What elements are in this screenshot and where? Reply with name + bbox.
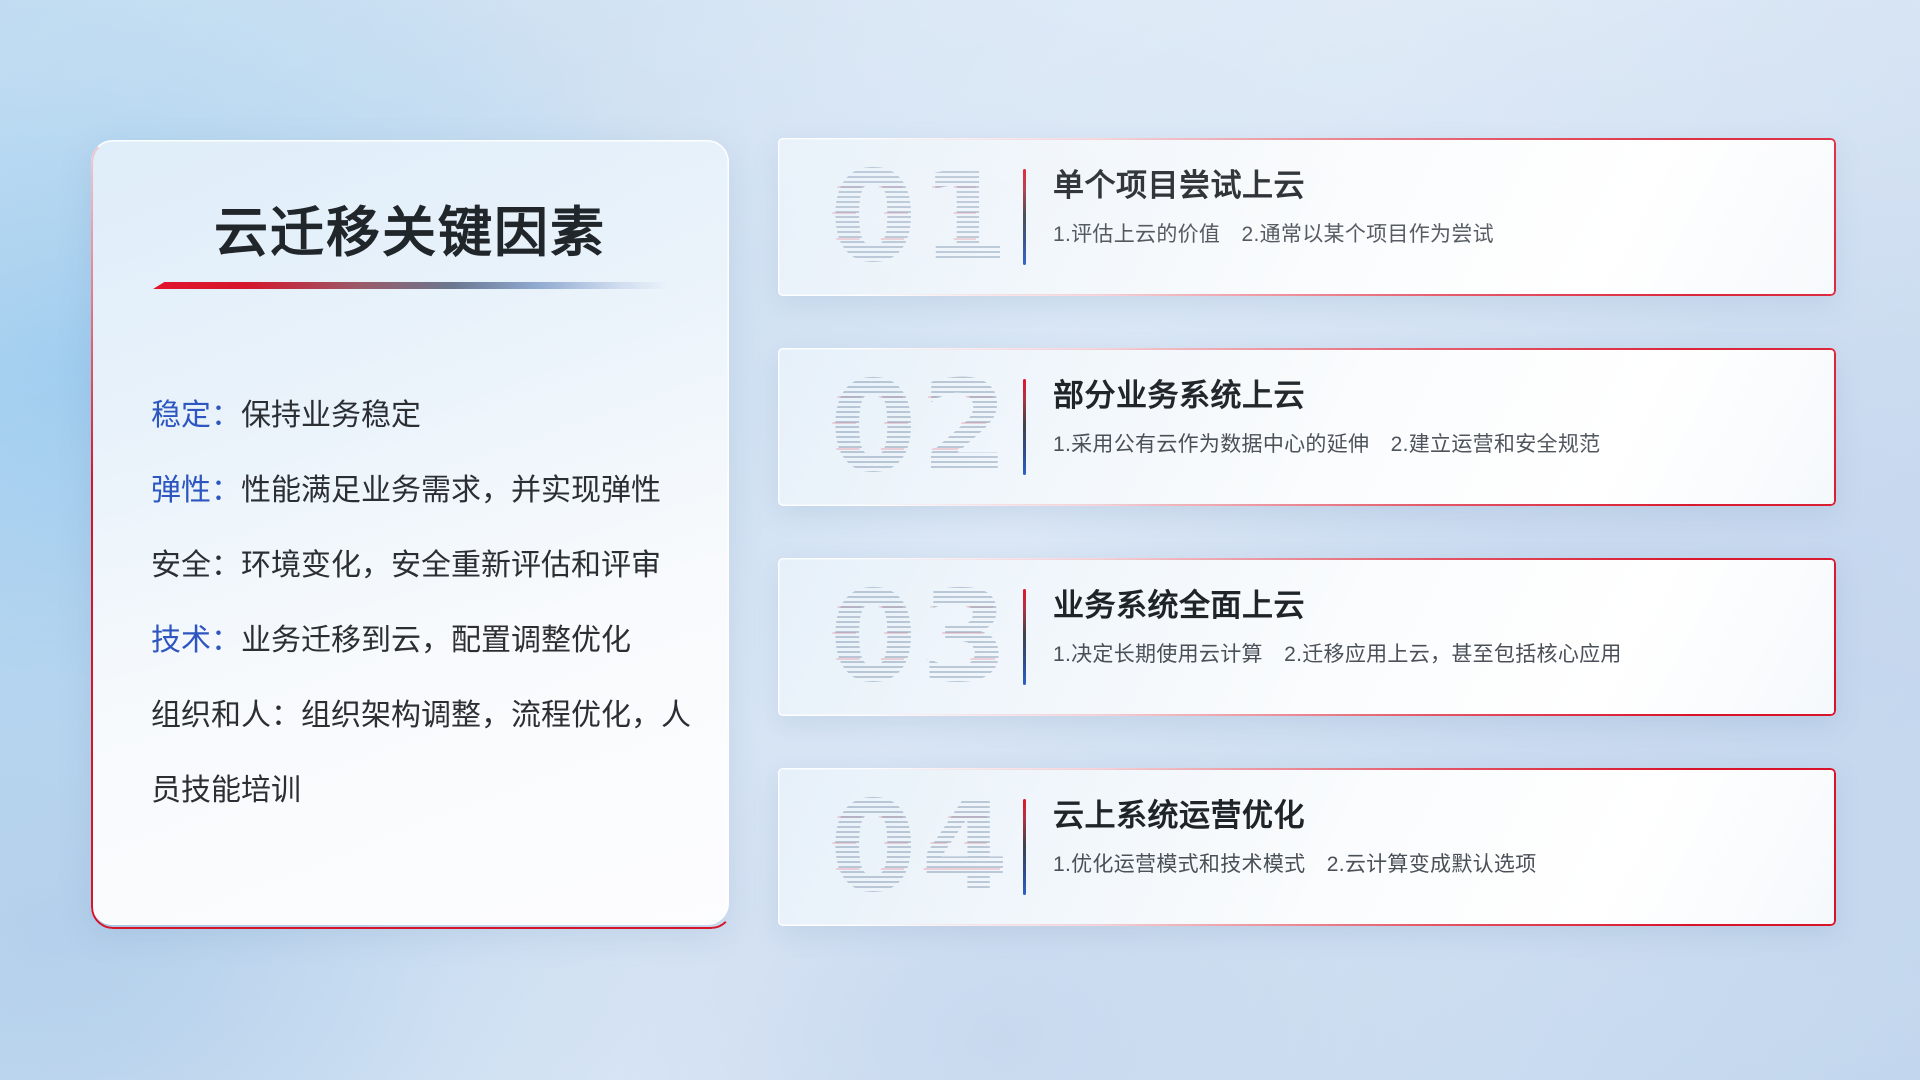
stage-number-echo: 01 <box>811 151 1025 283</box>
stage-card[interactable]: 01 01 单个项目尝试上云 1.评估上云的价值 2.通常以某个项目作为尝试 <box>778 138 1836 296</box>
factor-text: 环境变化，安全重新评估和评审 <box>241 549 661 582</box>
stage-description: 1.采用公有云作为数据中心的延伸 2.建立运营和安全规范 <box>1053 431 1812 459</box>
factor-label: 稳定： <box>151 399 241 432</box>
key-factors-panel: 云迁移关键因素 稳定：保持业务稳定 弹性：性能满足业务需求，并实现弹性 安全：环… <box>91 140 729 925</box>
stage-body: 云上系统运营优化 1.优化运营模式和技术模式 2.云计算变成默认选项 <box>1053 794 1812 879</box>
list-item: 弹性：性能满足业务需求，并实现弹性 <box>151 453 693 528</box>
stage-title: 业务系统全面上云 <box>1053 584 1812 628</box>
stage-card[interactable]: 02 02 部分业务系统上云 1.采用公有云作为数据中心的延伸 2.建立运营和安… <box>778 348 1836 506</box>
stage-body: 部分业务系统上云 1.采用公有云作为数据中心的延伸 2.建立运营和安全规范 <box>1053 374 1812 459</box>
factor-text: 性能满足业务需求，并实现弹性 <box>241 474 661 507</box>
factor-label: 技术： <box>151 624 241 657</box>
stage-title: 部分业务系统上云 <box>1053 374 1812 418</box>
migration-stage-cards: 01 01 单个项目尝试上云 1.评估上云的价值 2.通常以某个项目作为尝试 0… <box>778 138 1836 926</box>
factor-text: 业务迁移到云，配置调整优化 <box>241 624 631 657</box>
stage-description: 1.评估上云的价值 2.通常以某个项目作为尝试 <box>1053 221 1812 249</box>
stage-title: 云上系统运营优化 <box>1053 794 1812 838</box>
stage-description: 1.优化运营模式和技术模式 2.云计算变成默认选项 <box>1053 851 1812 879</box>
factor-label: 组织和人： <box>151 699 301 732</box>
list-item: 组织和人：组织架构调整，流程优化，人员技能培训 <box>151 678 693 828</box>
stage-divider <box>1023 799 1026 895</box>
factor-label: 安全： <box>151 549 241 582</box>
stage-divider <box>1023 589 1026 685</box>
list-item: 稳定：保持业务稳定 <box>151 378 693 453</box>
stage-description: 1.决定长期使用云计算 2.迁移应用上云，甚至包括核心应用 <box>1053 641 1812 669</box>
list-item: 技术：业务迁移到云，配置调整优化 <box>151 603 693 678</box>
title-underline-rule <box>153 282 669 289</box>
slide-canvas: 云迁移关键因素 稳定：保持业务稳定 弹性：性能满足业务需求，并实现弹性 安全：环… <box>0 0 1920 1080</box>
stage-number: 02 <box>814 361 1028 493</box>
stage-body: 单个项目尝试上云 1.评估上云的价值 2.通常以某个项目作为尝试 <box>1053 164 1812 249</box>
stage-divider <box>1023 169 1026 265</box>
page-title: 云迁移关键因素 <box>91 188 729 267</box>
stage-card[interactable]: 03 03 业务系统全面上云 1.决定长期使用云计算 2.迁移应用上云，甚至包括… <box>778 558 1836 716</box>
stage-title: 单个项目尝试上云 <box>1053 164 1812 208</box>
factor-label: 弹性： <box>151 474 241 507</box>
stage-number-echo: 04 <box>811 781 1025 913</box>
stage-card[interactable]: 04 04 云上系统运营优化 1.优化运营模式和技术模式 2.云计算变成默认选项 <box>778 768 1836 926</box>
list-item: 安全：环境变化，安全重新评估和评审 <box>151 528 693 603</box>
stage-number-echo: 02 <box>811 361 1025 493</box>
stage-number: 03 <box>814 571 1028 703</box>
stage-body: 业务系统全面上云 1.决定长期使用云计算 2.迁移应用上云，甚至包括核心应用 <box>1053 584 1812 669</box>
key-factors-list: 稳定：保持业务稳定 弹性：性能满足业务需求，并实现弹性 安全：环境变化，安全重新… <box>151 378 693 828</box>
stage-number: 04 <box>814 781 1028 913</box>
stage-number: 01 <box>814 151 1028 283</box>
stage-number-echo: 03 <box>811 571 1025 703</box>
factor-text: 保持业务稳定 <box>241 399 421 432</box>
stage-divider <box>1023 379 1026 475</box>
